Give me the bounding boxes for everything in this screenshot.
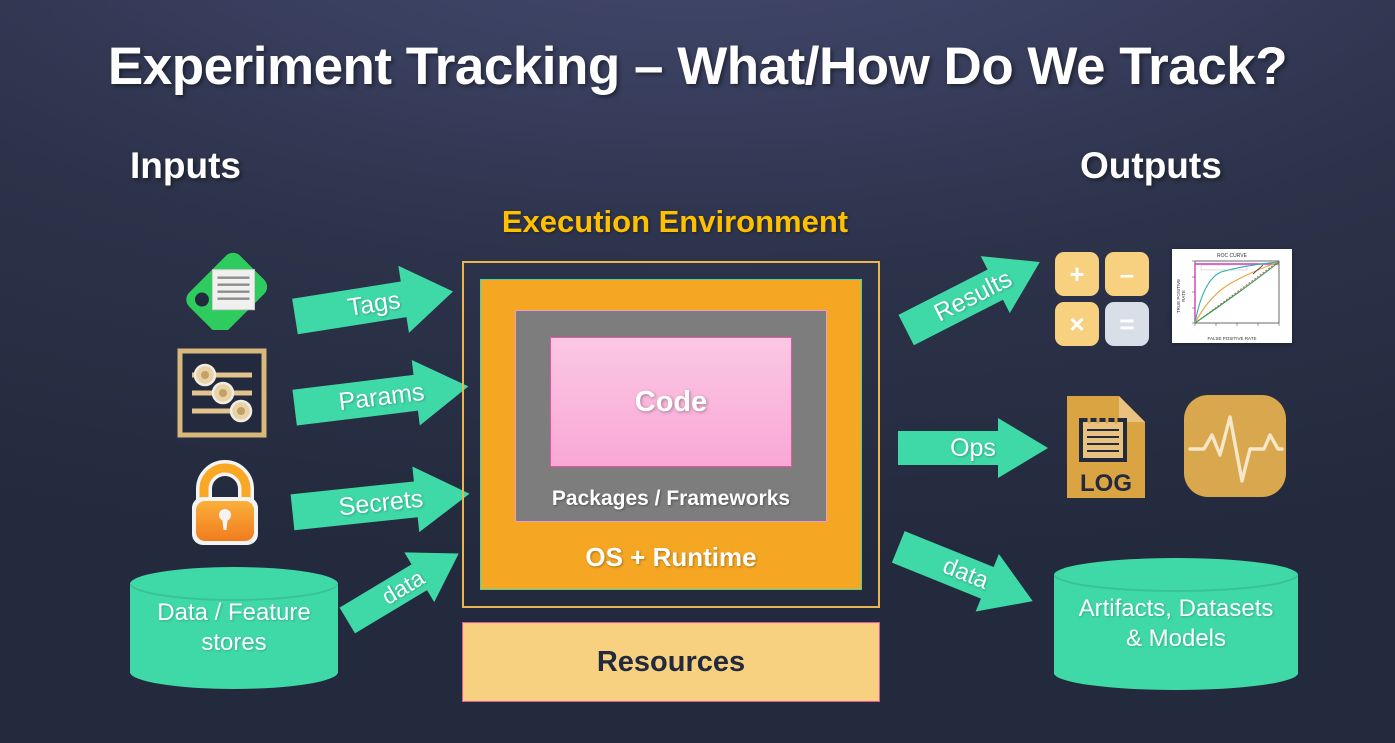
roc-curve-thumbnail: ROC CURVE FAL xyxy=(1172,249,1292,343)
calc-key-plus: + xyxy=(1055,252,1099,296)
calc-key-equals: = xyxy=(1105,302,1149,346)
arrow-tags: Tags xyxy=(289,256,458,352)
artifacts-line-1: Artifacts, Datasets xyxy=(1079,594,1274,624)
sliders-icon xyxy=(176,347,268,439)
padlock-icon xyxy=(184,457,266,549)
arrow-data-out: data xyxy=(886,516,1045,632)
os-runtime-label: OS + Runtime xyxy=(481,542,861,573)
packages-label: Packages / Frameworks xyxy=(516,487,826,511)
slide-canvas: Experiment Tracking – What/How Do We Tra… xyxy=(0,0,1395,743)
roc-ylabel: TRUE POSITIVE RATE xyxy=(1176,276,1186,316)
code-label: Code xyxy=(635,386,708,419)
execution-environment-heading: Execution Environment xyxy=(455,204,895,240)
packages-frameworks-layer: Code Packages / Frameworks xyxy=(515,310,827,522)
artifacts-store-label: Artifacts, Datasets & Models xyxy=(1054,558,1298,690)
resources-bar: Resources xyxy=(462,622,880,702)
arrow-data-in: data xyxy=(331,527,474,647)
data-feature-store-label: Data / Feature stores xyxy=(130,567,338,689)
code-layer: Code xyxy=(550,337,792,467)
artifacts-line-2: & Models xyxy=(1126,624,1226,654)
resources-label: Resources xyxy=(597,646,745,679)
arrow-ops: Ops xyxy=(898,417,1048,479)
metrics-waveform-icon xyxy=(1182,393,1288,499)
artifacts-store-cylinder: Artifacts, Datasets & Models xyxy=(1054,558,1298,690)
data-feature-store-cylinder: Data / Feature stores xyxy=(130,567,338,689)
execution-environment-box: Code Packages / Frameworks OS + Runtime xyxy=(462,261,880,608)
store-line-1: Data / Feature xyxy=(157,598,310,628)
os-runtime-layer: Code Packages / Frameworks OS + Runtime xyxy=(480,279,862,590)
calc-key-minus: – xyxy=(1105,252,1149,296)
calculator-icon: + – × = xyxy=(1055,252,1149,346)
page-title: Experiment Tracking – What/How Do We Tra… xyxy=(0,36,1395,97)
roc-xlabel: FALSE POSITIVE RATE xyxy=(1173,336,1291,341)
outputs-heading: Outputs xyxy=(1080,145,1222,187)
log-file-icon: LOG xyxy=(1063,392,1149,502)
inputs-heading: Inputs xyxy=(130,145,241,187)
tag-icon xyxy=(180,238,272,330)
arrow-results: Results xyxy=(891,232,1056,361)
log-file-label: LOG xyxy=(1080,470,1132,497)
calc-key-multiply: × xyxy=(1055,302,1099,346)
store-line-2: stores xyxy=(201,628,266,658)
arrow-params: Params xyxy=(290,352,472,443)
